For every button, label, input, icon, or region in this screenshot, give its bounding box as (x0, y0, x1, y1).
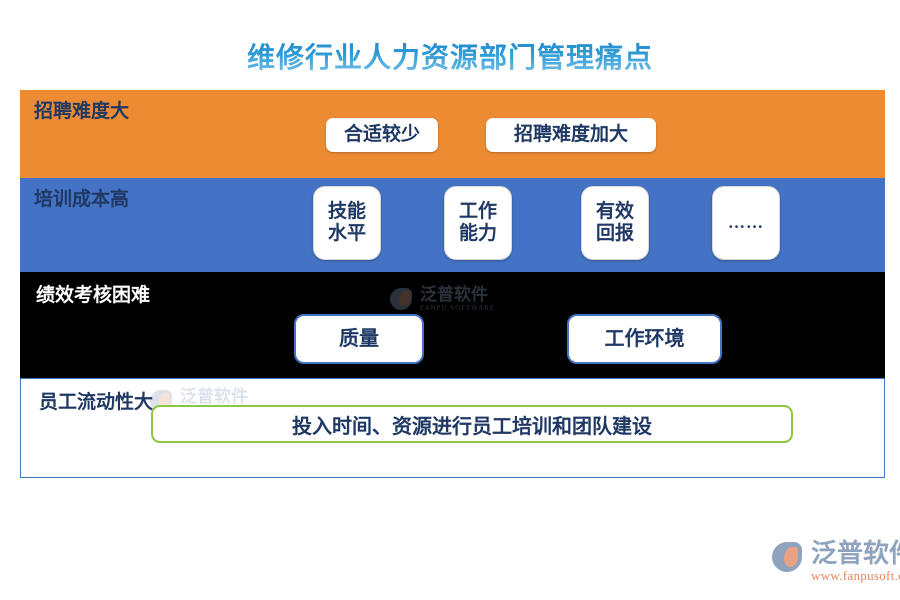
band-label-performance-review: 绩效考核困难 (36, 280, 150, 307)
footer-logo: 泛普软件 www.fanpusoft.com (772, 540, 900, 582)
chip-work-ability-line2: 能力 (459, 223, 497, 245)
footer-logo-url: www.fanpusoft.com (811, 569, 900, 582)
chip-ellipsis[interactable]: …… (712, 186, 780, 260)
chip-work-environment[interactable]: 工作环境 (567, 314, 722, 364)
band-staff-turnover: 员工流动性大 投入时间、资源进行员工培训和团队建设 (20, 378, 885, 478)
chip-effective-return[interactable]: 有效 回报 (581, 186, 649, 260)
chip-work-ability-line1: 工作 (459, 201, 497, 223)
chip-effective-return-line2: 回报 (596, 223, 634, 245)
band-training-cost: 培训成本高 技能 水平 工作 能力 有效 回报 …… (20, 178, 885, 272)
band-label-recruiting: 招聘难度大 (34, 96, 129, 123)
band-label-staff-turnover: 员工流动性大 (39, 387, 153, 414)
chip-ellipsis-line1: …… (728, 213, 764, 233)
chip-effective-return-line1: 有效 (596, 201, 634, 223)
footer-logo-text: 泛普软件 www.fanpusoft.com (811, 540, 900, 582)
band-label-training-cost: 培训成本高 (34, 184, 129, 211)
chip-work-ability[interactable]: 工作 能力 (444, 186, 512, 260)
chip-training-team-building[interactable]: 投入时间、资源进行员工培训和团队建设 (151, 405, 793, 443)
chip-skill-level-line2: 水平 (328, 223, 366, 245)
page-title-container: 维修行业人力资源部门管理痛点 (0, 36, 900, 76)
chip-skill-level-line1: 技能 (328, 201, 366, 223)
band-performance-review: 绩效考核困难 质量 工作环境 (20, 272, 885, 378)
chip-recruiting-harder[interactable]: 招聘难度加大 (486, 118, 656, 152)
chip-skill-level[interactable]: 技能 水平 (313, 186, 381, 260)
fanpu-brand-icon (772, 542, 806, 576)
band-recruiting: 招聘难度大 合适较少 招聘难度加大 (20, 90, 885, 178)
chip-suitable-few[interactable]: 合适较少 (326, 118, 438, 152)
page-title: 维修行业人力资源部门管理痛点 (247, 36, 653, 76)
chip-quality[interactable]: 质量 (294, 314, 424, 364)
footer-logo-name: 泛普软件 (811, 540, 900, 566)
pain-points-diagram: 招聘难度大 合适较少 招聘难度加大 培训成本高 技能 水平 工作 能力 有效 回… (20, 90, 885, 480)
